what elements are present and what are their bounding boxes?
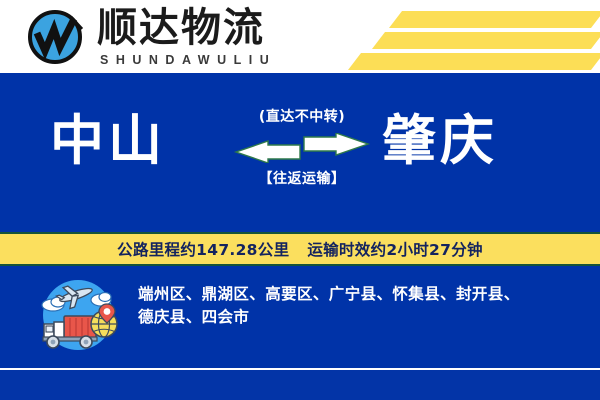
brand-name-cn: 顺达物流 <box>97 5 276 51</box>
route-info-bar: 公路里程约147.28公里运输时效约2小时27分钟 <box>0 232 600 266</box>
duration-text: 运输时效约2小时27分钟 <box>307 241 482 259</box>
coverage-line-2: 德庆县、四会市 <box>138 306 580 329</box>
header-stripe-3 <box>348 53 600 70</box>
bidirectional-arrow-icon <box>232 133 372 163</box>
coverage-line-1: 端州区、鼎湖区、高要区、广宁县、怀集县、封开县、 <box>138 283 580 306</box>
route-section: 中山 (直达不中转) 【往返运输】 肇庆 <box>0 73 600 232</box>
footer-strip <box>0 370 600 400</box>
route-info-text: 公路里程约147.28公里运输时效约2小时27分钟 <box>117 238 483 260</box>
brand-block: 顺达物流 SHUNDAWULIU <box>97 5 276 68</box>
header-stripe-2 <box>372 32 600 49</box>
route-middle-group: (直达不中转) 【往返运输】 <box>232 107 372 207</box>
shunda-circle-w-logo-icon <box>24 7 88 67</box>
origin-city: 中山 <box>50 111 166 171</box>
logistics-truck-plane-globe-icon <box>28 278 128 352</box>
distance-text: 公路里程约147.28公里 <box>117 241 289 259</box>
coverage-area-list: 端州区、鼎湖区、高要区、广宁县、怀集县、封开县、 德庆县、四会市 <box>138 283 580 329</box>
banner-header: 顺达物流 SHUNDAWULIU <box>0 0 600 73</box>
route-note-direct: (直达不中转) <box>232 107 372 127</box>
header-stripe-1 <box>389 11 600 28</box>
brand-name-en: SHUNDAWULIU <box>100 52 276 68</box>
destination-city: 肇庆 <box>382 111 498 171</box>
route-note-roundtrip: 【往返运输】 <box>232 169 372 189</box>
coverage-section: 端州区、鼎湖区、高要区、广宁县、怀集县、封开县、 德庆县、四会市 <box>0 266 600 366</box>
logistics-route-banner: 顺达物流 SHUNDAWULIU 中山 (直达不中转) 【往返运输】 肇庆 <box>0 0 600 400</box>
